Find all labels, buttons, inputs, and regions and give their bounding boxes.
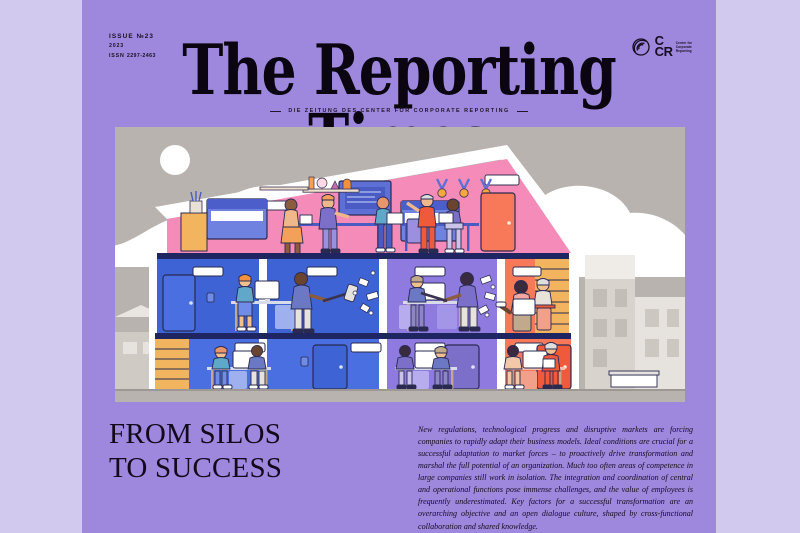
screenshot-canvas: ISSUE №23 2023 ISSN 2297-2463 C CR	[0, 0, 800, 533]
lead-paragraph: New regulations, technological progress …	[418, 424, 693, 533]
cover-illustration	[115, 127, 685, 402]
masthead-subtitle-row: DIE ZEITUNG DES CENTER FOR CORPORATE REP…	[82, 108, 716, 114]
masthead-subtitle: DIE ZEITUNG DES CENTER FOR CORPORATE REP…	[288, 108, 509, 114]
office-cutaway-illustration	[115, 127, 685, 402]
headline-line-1: FROM SILOS	[109, 418, 409, 452]
headline-line-2: TO SUCCESS	[109, 452, 409, 486]
subtitle-rule-left	[270, 111, 281, 112]
subtitle-rule-right	[517, 111, 528, 112]
newspaper-front-page: ISSUE №23 2023 ISSN 2297-2463 C CR	[82, 0, 716, 533]
page-headline: FROM SILOS TO SUCCESS	[109, 418, 409, 486]
